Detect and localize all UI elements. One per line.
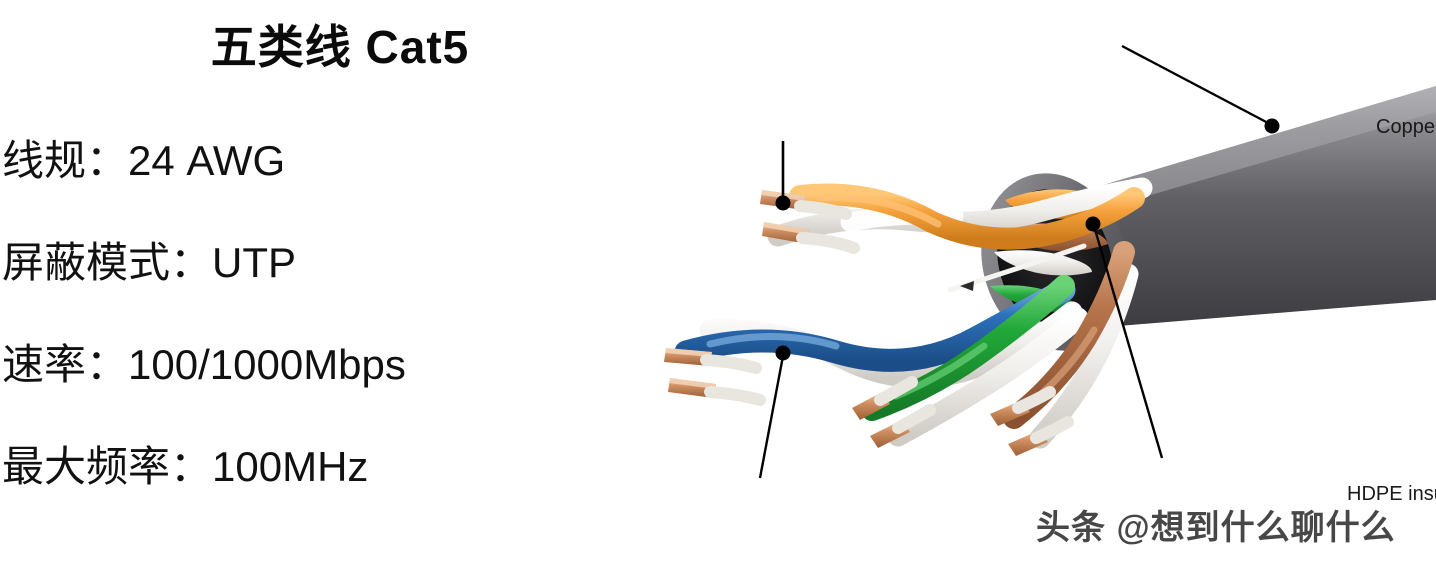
spec-label: 速率： [2,341,128,388]
spec-label: 线规： [2,137,128,184]
leader-dot-hdpe [776,346,790,360]
leader-line-hdpe [760,356,783,478]
leader-dot-copper [776,196,790,210]
spec-value: 100/1000Mbps [128,341,406,388]
spec-row: 线规：24 AWG [2,140,285,182]
callout-label-copper-core: Copper core [1376,117,1436,137]
spec-row: 速率：100/1000Mbps [2,344,406,386]
spec-row: 最大频率：100MHz [2,446,368,488]
page-title: 五类线 Cat5 [0,22,680,73]
leader-line-pvc [1122,46,1270,124]
watermark: 头条 @想到什么聊什么 [1036,500,1396,549]
spec-panel: 五类线 Cat5 线规：24 AWG 屏蔽模式：UTP 速率：100/1000M… [0,0,690,561]
leader-dot-pvc [1265,119,1279,133]
spec-row: 屏蔽模式：UTP [2,242,296,284]
cable-illustration: PVC sheath Copper core HDPE insulator Te… [650,0,1436,561]
cable-cutaway-diagram [650,0,1436,561]
spec-value: 24 AWG [128,137,285,184]
page-root: 五类线 Cat5 线规：24 AWG 屏蔽模式：UTP 速率：100/1000M… [0,0,1436,561]
spec-value: 100MHz [212,443,368,490]
leader-dot-tensile [1086,217,1100,231]
spec-label: 最大频率： [2,443,212,490]
spec-label: 屏蔽模式： [2,239,212,286]
spec-value: UTP [212,239,296,286]
twisted-pair-blue [664,290,1072,400]
